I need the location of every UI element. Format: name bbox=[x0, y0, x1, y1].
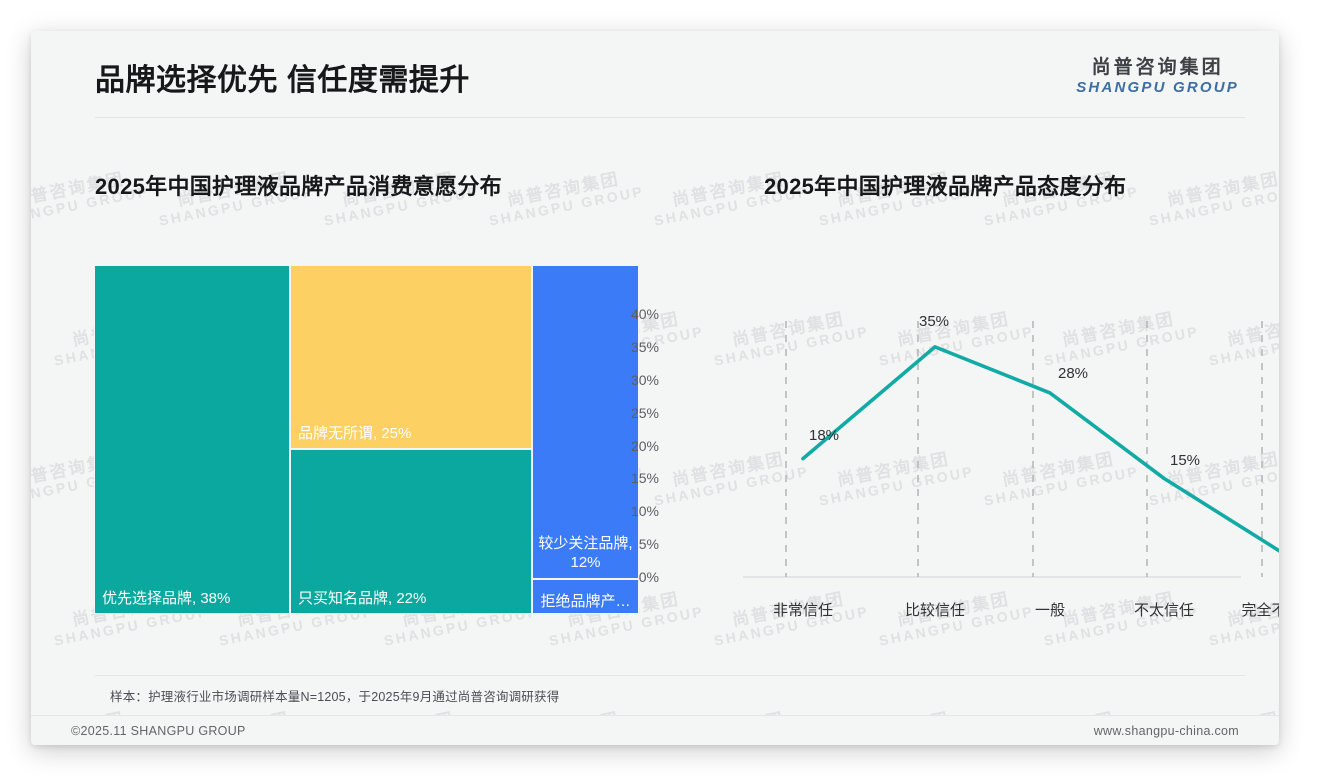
data-point-label: 28% bbox=[1058, 365, 1088, 382]
treemap-tile-label: 只买知名品牌, 22% bbox=[298, 589, 527, 608]
footnote-text: 样本：护理液行业市场调研样本量N=1205，于2025年9月通过尚普咨询调研获得 bbox=[110, 686, 559, 705]
treemap-tile-label: 优先选择品牌, 38% bbox=[102, 589, 285, 608]
slide-footer: ©2025.11 SHANGPU GROUP www.shangpu-china… bbox=[31, 716, 1279, 745]
data-point-label: 35% bbox=[919, 313, 949, 330]
x-axis-tick-label: 比较信任 bbox=[905, 599, 965, 620]
watermark-text: 尚普咨询集团SHANGPU GROUP bbox=[484, 166, 645, 228]
logo-chinese-text: 尚普咨询集团 bbox=[1076, 57, 1239, 79]
brand-logo: 尚普咨询集团 SHANGPU GROUP bbox=[1076, 57, 1239, 96]
data-point-label: 15% bbox=[1170, 452, 1200, 469]
data-point-label: 18% bbox=[809, 427, 839, 444]
x-axis-tick-label: 非常信任 bbox=[773, 599, 833, 620]
x-axis-tick-label: 一般 bbox=[1035, 599, 1065, 620]
line-series-path bbox=[803, 347, 1279, 551]
copyright-text: ©2025.11 SHANGPU GROUP bbox=[71, 724, 246, 738]
treemap-tile[interactable]: 优先选择品牌, 38% bbox=[94, 265, 290, 614]
logo-english-text: SHANGPU GROUP bbox=[1076, 79, 1239, 96]
header-divider bbox=[95, 117, 1245, 118]
y-axis-tick-label: 20% bbox=[599, 438, 659, 454]
treemap-chart: 优先选择品牌, 38%品牌无所谓, 25%只买知名品牌, 22%较少关注品牌, … bbox=[94, 265, 639, 614]
y-axis-tick-label: 25% bbox=[599, 405, 659, 421]
right-chart-title: 2025年中国护理液品牌产品态度分布 bbox=[764, 169, 1126, 201]
x-axis-tick-label: 不太信任 bbox=[1134, 599, 1194, 620]
slide-header: 品牌选择优先 信任度需提升 尚普咨询集团 SHANGPU GROUP bbox=[31, 31, 1279, 117]
slide-card: 尚普咨询集团SHANGPU GROUP尚普咨询集团SHANGPU GROUP尚普… bbox=[31, 31, 1279, 745]
watermark-text: 尚普咨询集团SHANGPU GROUP bbox=[1144, 166, 1279, 228]
left-chart-title: 2025年中国护理液品牌产品消费意愿分布 bbox=[95, 169, 502, 201]
treemap-tile[interactable]: 品牌无所谓, 25% bbox=[290, 265, 532, 449]
y-axis-tick-label: 0% bbox=[599, 569, 659, 585]
website-link[interactable]: www.shangpu-china.com bbox=[1094, 724, 1239, 738]
line-chart-canvas bbox=[651, 271, 1251, 631]
page-title: 品牌选择优先 信任度需提升 bbox=[95, 55, 470, 99]
footnote-divider bbox=[95, 675, 1245, 676]
y-axis-tick-label: 15% bbox=[599, 470, 659, 486]
y-axis-tick-label: 10% bbox=[599, 503, 659, 519]
treemap-tile-label: 品牌无所谓, 25% bbox=[298, 424, 527, 443]
y-axis-tick-label: 5% bbox=[599, 536, 659, 552]
treemap-tile-label: 拒绝品牌产… bbox=[536, 593, 635, 611]
line-chart: 0%5%10%15%20%25%30%35%40%非常信任比较信任一般不太信任完… bbox=[651, 271, 1251, 631]
y-axis-tick-label: 40% bbox=[599, 306, 659, 322]
y-axis-tick-label: 30% bbox=[599, 372, 659, 388]
treemap-tile[interactable]: 只买知名品牌, 22% bbox=[290, 449, 532, 614]
y-axis-tick-label: 35% bbox=[599, 339, 659, 355]
x-axis-tick-label: 完全不信任 bbox=[1241, 599, 1279, 620]
